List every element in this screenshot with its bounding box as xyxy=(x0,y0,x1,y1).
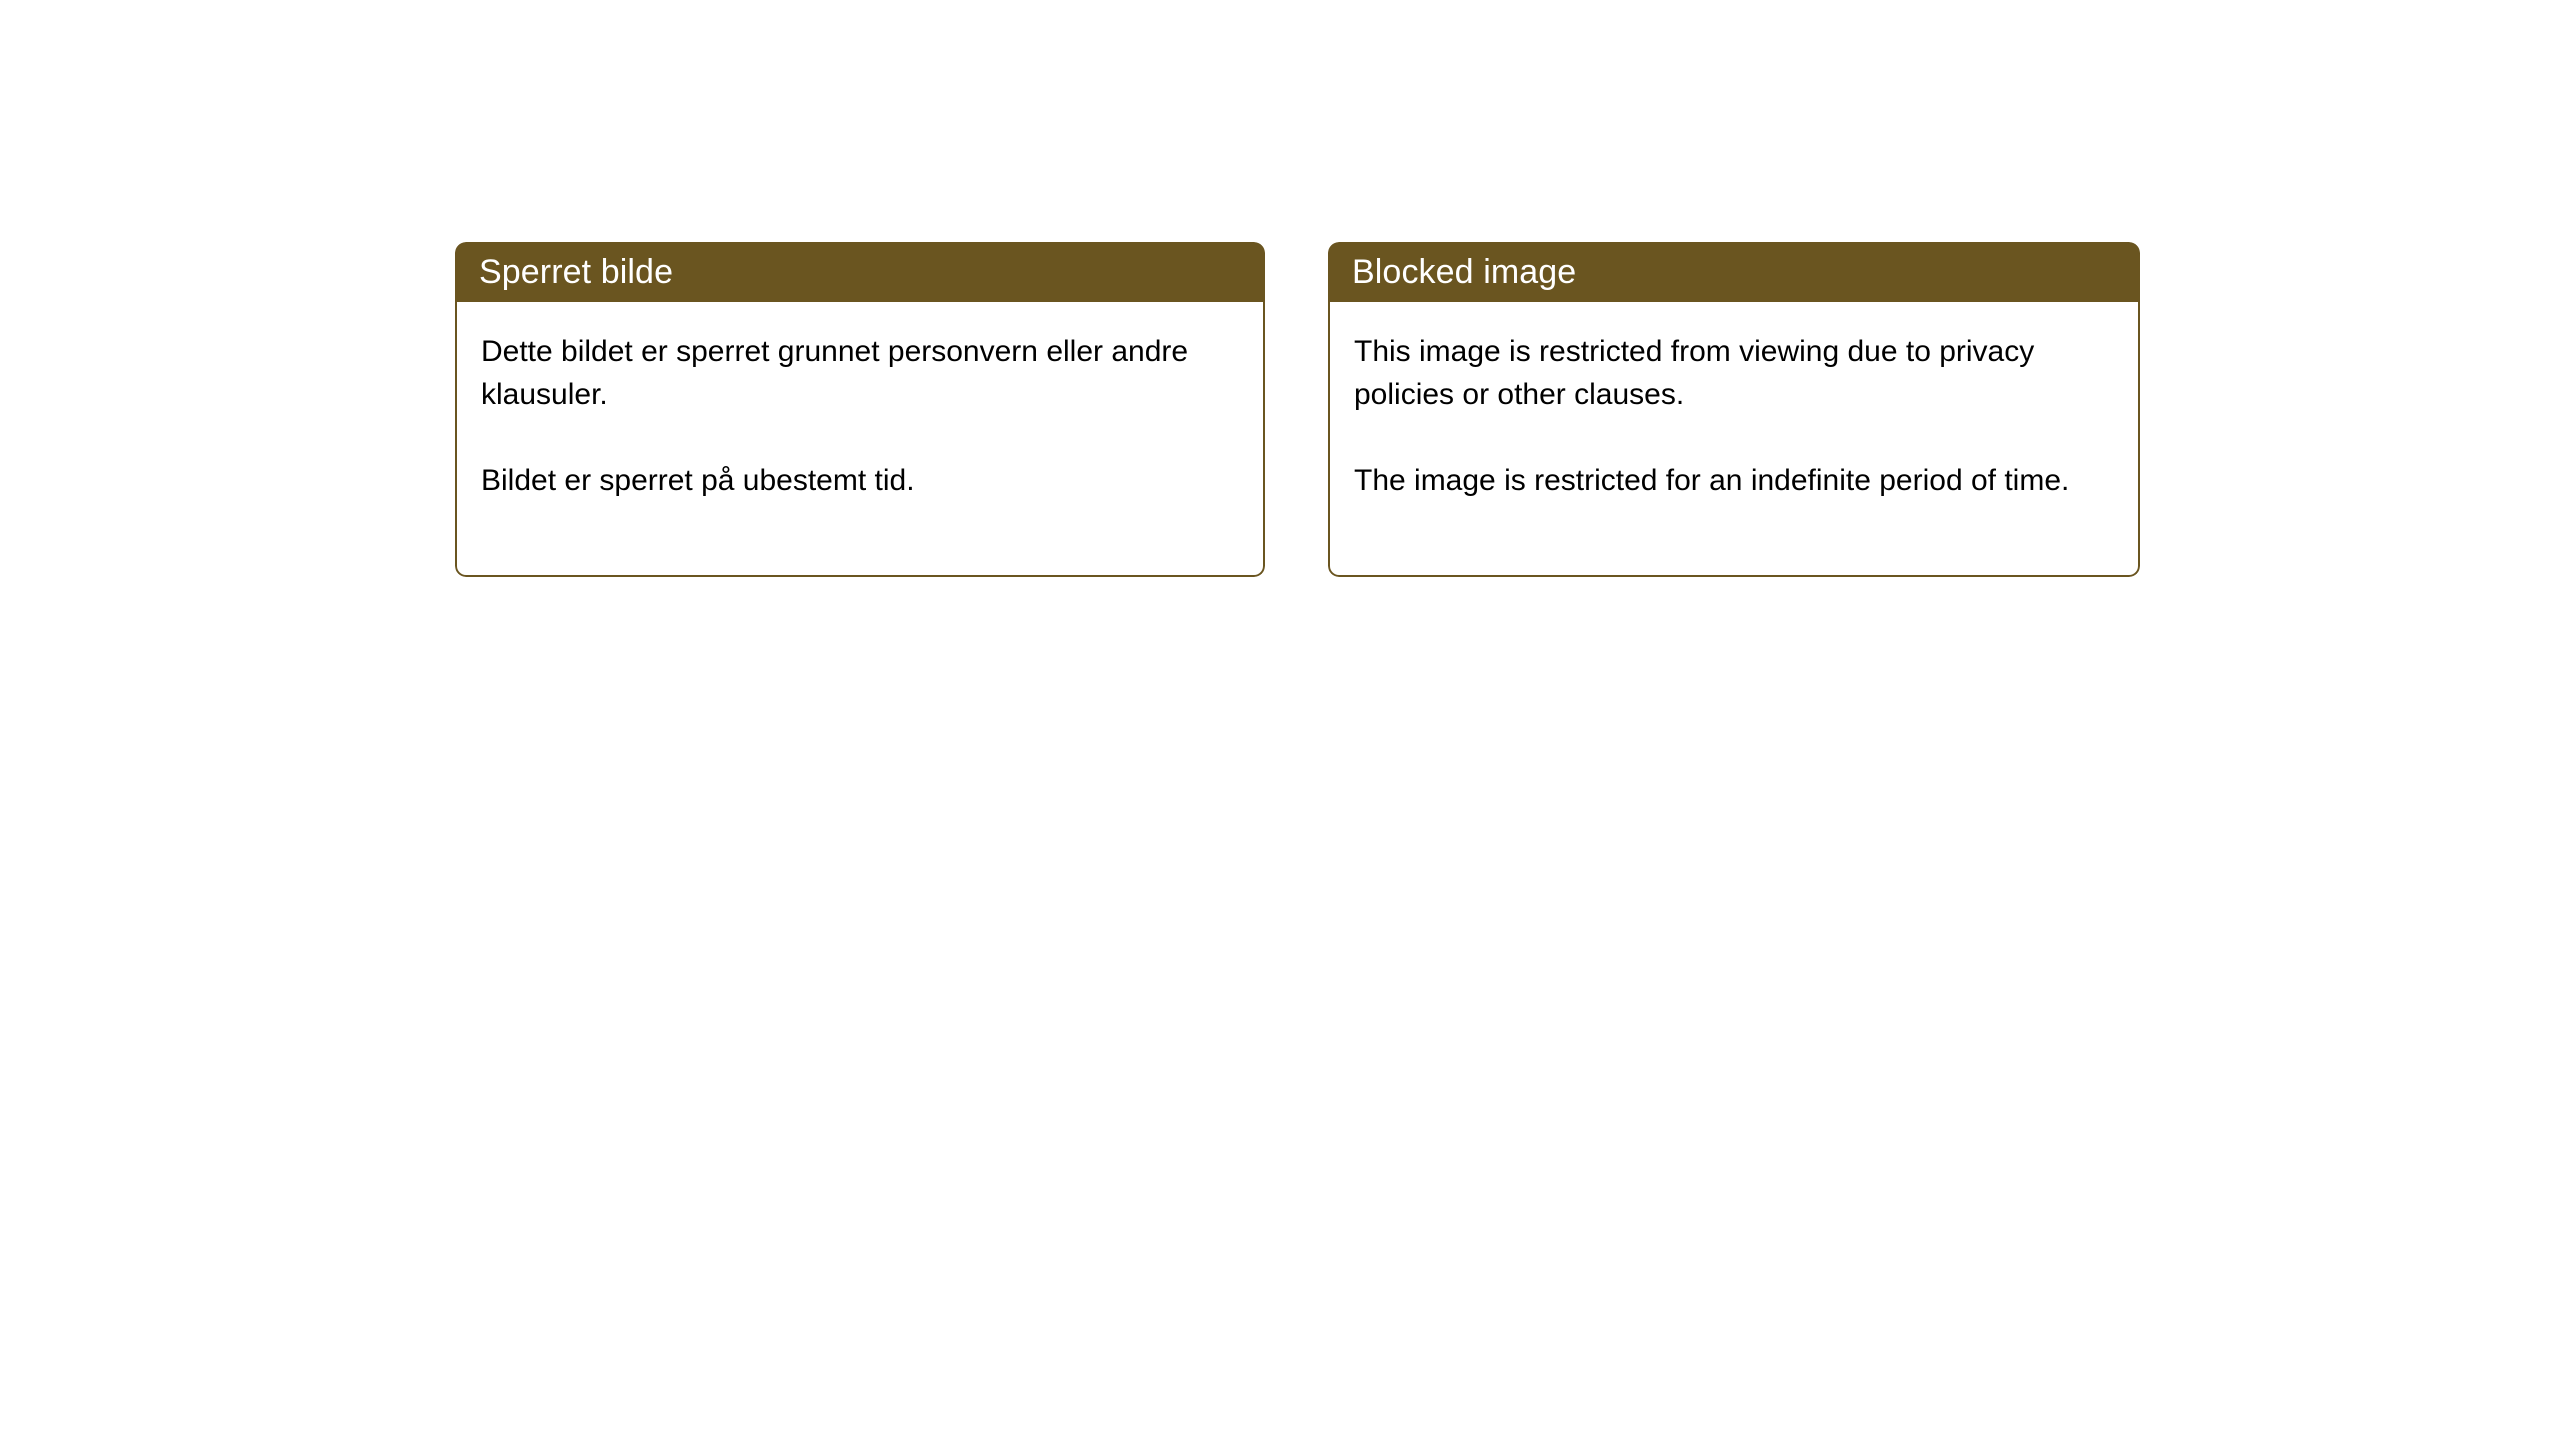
notice-body-en: This image is restricted from viewing du… xyxy=(1328,302,2140,577)
blocked-image-notice-group: Sperret bilde Dette bildet er sperret gr… xyxy=(455,242,2140,577)
blocked-image-notice-en: Blocked image This image is restricted f… xyxy=(1328,242,2140,577)
page-canvas: Sperret bilde Dette bildet er sperret gr… xyxy=(0,0,2560,1440)
notice-paragraph-reason-no: Dette bildet er sperret grunnet personve… xyxy=(481,330,1241,416)
notice-paragraph-duration-en: The image is restricted for an indefinit… xyxy=(1354,459,2116,502)
notice-title-no: Sperret bilde xyxy=(479,255,673,289)
notice-header-en: Blocked image xyxy=(1328,242,2140,302)
notice-body-no: Dette bildet er sperret grunnet personve… xyxy=(455,302,1265,577)
blocked-image-notice-no: Sperret bilde Dette bildet er sperret gr… xyxy=(455,242,1265,577)
notice-paragraph-reason-en: This image is restricted from viewing du… xyxy=(1354,330,2116,416)
notice-paragraph-duration-no: Bildet er sperret på ubestemt tid. xyxy=(481,459,1241,502)
notice-header-no: Sperret bilde xyxy=(455,242,1265,302)
notice-title-en: Blocked image xyxy=(1352,255,1576,289)
